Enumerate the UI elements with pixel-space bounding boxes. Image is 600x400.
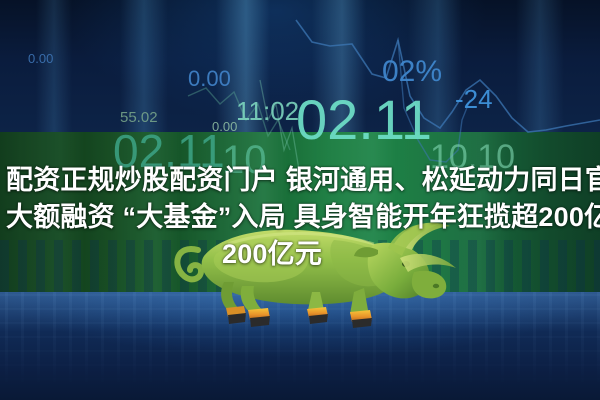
headline-line-2: 大额融资 “大基金”入局 具身智能开年狂揽超200亿 — [6, 199, 594, 236]
stock-news-banner: 0.00 0.00 02% -24 55.02 0.00 11:02 02.11… — [0, 0, 600, 400]
headline: 配资正规炒股配资门户 银河通用、松延动力同日官 大额融资 “大基金”入局 具身智… — [0, 162, 600, 273]
headline-line-3: 200亿元 — [6, 236, 594, 273]
headline-line-1: 配资正规炒股配资门户 银河通用、松延动力同日官 — [6, 162, 594, 199]
